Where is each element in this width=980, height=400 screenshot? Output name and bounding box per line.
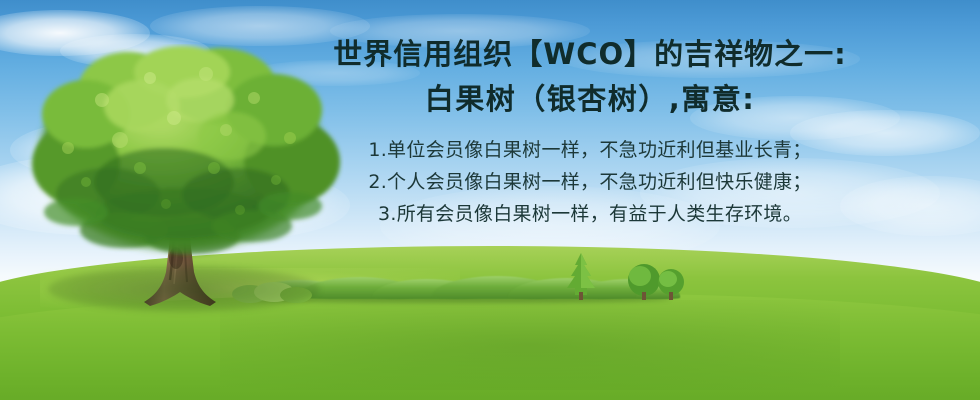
wco-mascot-banner: 世界信用组织【WCO】的吉祥物之一: 白果树（银杏树）,寓意: 1.单位会员像白… [0, 0, 980, 400]
distant-round-tree-b [655, 268, 687, 302]
tree-ground-shadow [48, 266, 320, 312]
main-ginkgo-tree [24, 44, 344, 314]
tree-canopy [32, 46, 340, 254]
distant-conifer-tree [560, 252, 602, 302]
